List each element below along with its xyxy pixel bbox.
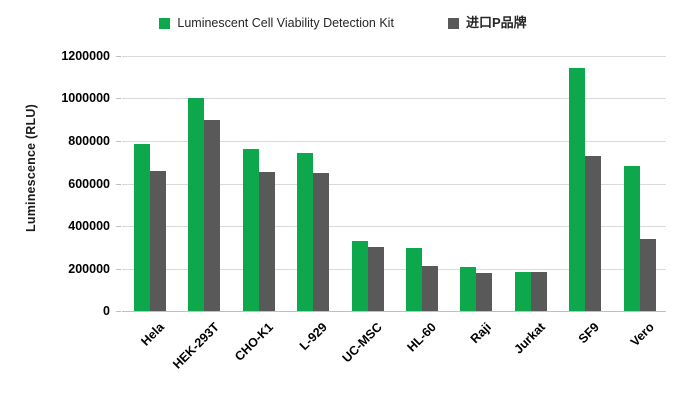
x-axis-label-l-929: L-929 [297, 320, 330, 353]
bar-hek-293t-series-2 [204, 120, 220, 311]
y-axis-tick-label: 1000000 [0, 92, 110, 105]
legend-label-series-2: 进口P品牌 [466, 16, 527, 30]
bar-hela-series-1 [134, 144, 150, 311]
chart-legend: Luminescent Cell Viability Detection Kit… [0, 10, 686, 36]
bar-group [285, 56, 339, 311]
x-axis-label-cho-k1: CHO-K1 [232, 320, 276, 364]
bar-chart: Luminescent Cell Viability Detection Kit… [0, 0, 686, 408]
x-axis-label-raji: Raji [467, 320, 493, 346]
y-axis-tick-mark [116, 311, 121, 312]
y-axis-tick-label: 200000 [0, 263, 110, 276]
bar-hela-series-2 [150, 171, 166, 311]
bar-cho-k1-series-2 [259, 172, 275, 311]
x-axis-label-uc-msc: UC-MSC [339, 320, 384, 365]
y-axis-tick-label: 800000 [0, 135, 110, 148]
x-axis-label-jurkat: Jurkat [511, 320, 547, 356]
bar-hl-60-series-2 [422, 266, 438, 311]
bar-uc-msc-series-2 [368, 247, 384, 311]
y-axis-tick-label: 600000 [0, 178, 110, 191]
bar-sf9-series-2 [585, 156, 601, 311]
bar-jurkat-series-1 [515, 272, 531, 311]
bar-group [231, 56, 285, 311]
x-axis-label-vero: Vero [628, 320, 657, 349]
bar-uc-msc-series-1 [352, 241, 368, 311]
bar-group [503, 56, 557, 311]
x-axis-label-hela: Hela [139, 320, 168, 349]
y-axis-tick-label: 0 [0, 305, 110, 318]
bar-hl-60-series-1 [406, 248, 422, 311]
x-axis-label-sf9: SF9 [576, 320, 602, 346]
bar-group [612, 56, 666, 311]
bar-group [122, 56, 176, 311]
y-axis-tick-mark [116, 226, 121, 227]
y-axis-tick-label: 1200000 [0, 50, 110, 63]
bar-group [557, 56, 611, 311]
y-axis-tick-label: 400000 [0, 220, 110, 233]
y-axis-tick-mark [116, 184, 121, 185]
y-axis-tick-mark [116, 98, 121, 99]
bar-raji-series-2 [476, 273, 492, 311]
x-axis-label-hl-60: HL-60 [405, 320, 439, 354]
legend-label-series-1: Luminescent Cell Viability Detection Kit [177, 16, 394, 30]
y-axis-tick-mark [116, 56, 121, 57]
bar-jurkat-series-2 [531, 272, 547, 311]
x-axis-label-hek-293t: HEK-293T [170, 320, 222, 372]
bar-group [176, 56, 230, 311]
x-axis-category-labels: HelaHEK-293TCHO-K1L-929UC-MSCHL-60RajiJu… [122, 316, 666, 396]
legend-swatch-gray [448, 18, 459, 29]
legend-entry-series-2: 进口P品牌 [448, 16, 527, 30]
bar-vero-series-2 [640, 239, 656, 311]
bar-vero-series-1 [624, 166, 640, 311]
bar-hek-293t-series-1 [188, 98, 204, 311]
bar-group [394, 56, 448, 311]
bar-group [340, 56, 394, 311]
bar-raji-series-1 [460, 267, 476, 311]
bar-cho-k1-series-1 [243, 149, 259, 311]
bar-l-929-series-1 [297, 153, 313, 311]
legend-entry-series-1: Luminescent Cell Viability Detection Kit [159, 16, 394, 30]
bar-sf9-series-1 [569, 68, 585, 311]
bar-l-929-series-2 [313, 173, 329, 311]
plot-area: 120000010000008000006000004000002000000 [122, 56, 666, 312]
y-axis-tick-mark [116, 269, 121, 270]
bar-group [448, 56, 502, 311]
legend-swatch-green [159, 18, 170, 29]
y-axis-tick-mark [116, 141, 121, 142]
x-axis-line [122, 311, 666, 312]
